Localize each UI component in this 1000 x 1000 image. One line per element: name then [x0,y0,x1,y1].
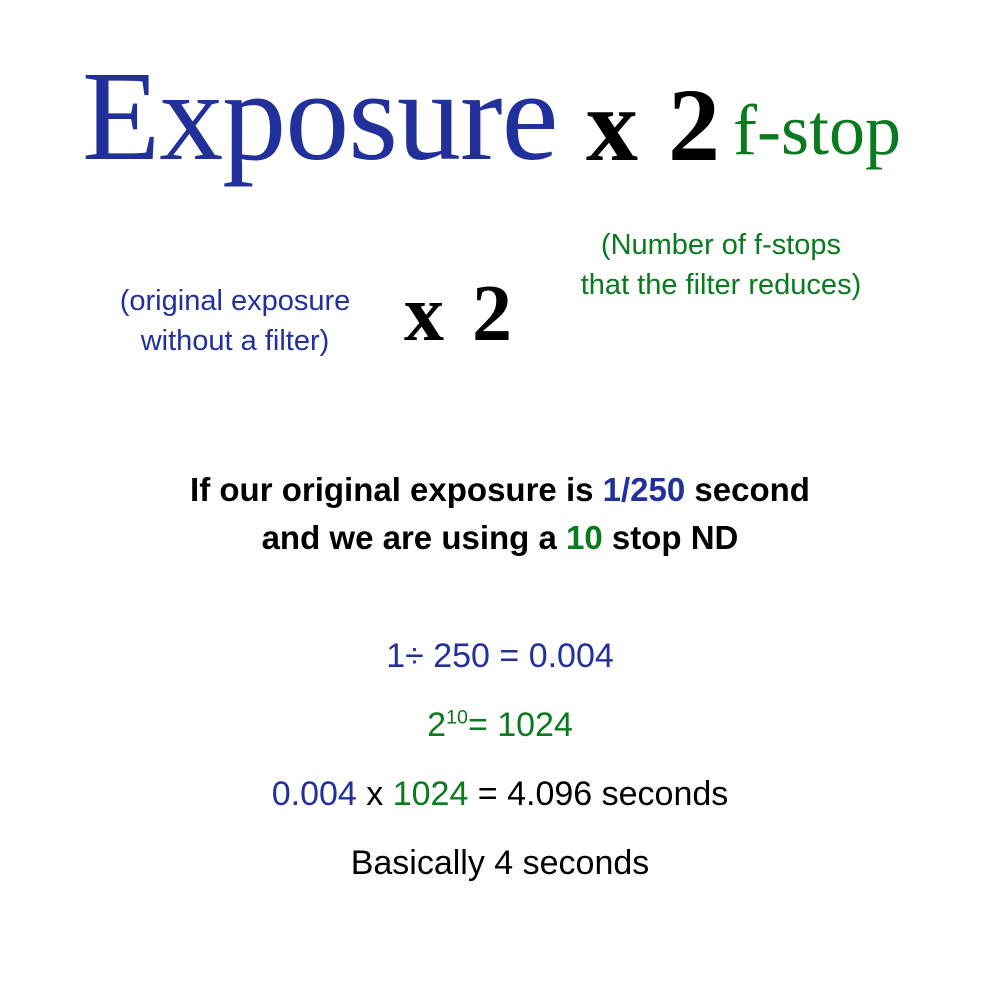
annotated-formula: (original exposure without a filter) x 2… [0,225,1000,375]
calculation-block: 1÷ 250 = 0.004 210= 1024 0.004 x 1024 = … [0,636,1000,883]
calculation-multiply-operand-a: 0.004 [272,775,357,813]
premise-line-2-suffix: stop ND [603,519,739,556]
premise-line-1-prefix: If our original exposure is [190,471,603,508]
calculation-power-exponent: 10 [446,707,468,729]
title-times-two: x 2 [586,66,722,186]
annotation-original-exposure-line2: without a filter) [75,321,395,361]
annotation-number-of-f-stops-line2: that the filter reduces) [540,265,902,305]
annotation-number-of-f-stops-line1: (Number of f-stops [540,225,902,265]
calculation-power-result: = 1024 [468,706,573,744]
premise-statement: If our original exposure is 1/250 second… [0,466,1000,562]
calculation-line-power: 210= 1024 [0,705,1000,745]
calculation-multiply-operand-b: 1024 [393,775,469,813]
title-word-exposure: Exposure [82,46,557,186]
calculation-line-multiply: 0.004 x 1024 = 4.096 seconds [0,774,1000,814]
calculation-multiply-operator: x [357,775,393,813]
calculation-multiply-result: = 4.096 seconds [468,775,728,813]
premise-nd-stops-value: 10 [566,519,603,556]
premise-shutter-speed-value: 1/250 [603,471,686,508]
premise-line-1-suffix: second [685,471,810,508]
title-formula: Exposure x 2 f-stop [0,46,1000,186]
premise-line-2-prefix: and we are using a [262,519,566,556]
formula-times-two: x 2 [404,269,516,359]
annotation-original-exposure: (original exposure without a filter) [75,281,395,361]
annotation-number-of-f-stops: (Number of f-stops that the filter reduc… [540,225,902,305]
title-exponent-f-stop: f-stop [733,94,901,166]
premise-line-1: If our original exposure is 1/250 second [0,466,1000,514]
premise-line-2: and we are using a 10 stop ND [0,514,1000,562]
calculation-line-conclusion: Basically 4 seconds [0,843,1000,883]
calculation-power-base: 2 [427,706,446,744]
calculation-line-divide: 1÷ 250 = 0.004 [0,636,1000,676]
annotation-original-exposure-line1: (original exposure [75,281,395,321]
